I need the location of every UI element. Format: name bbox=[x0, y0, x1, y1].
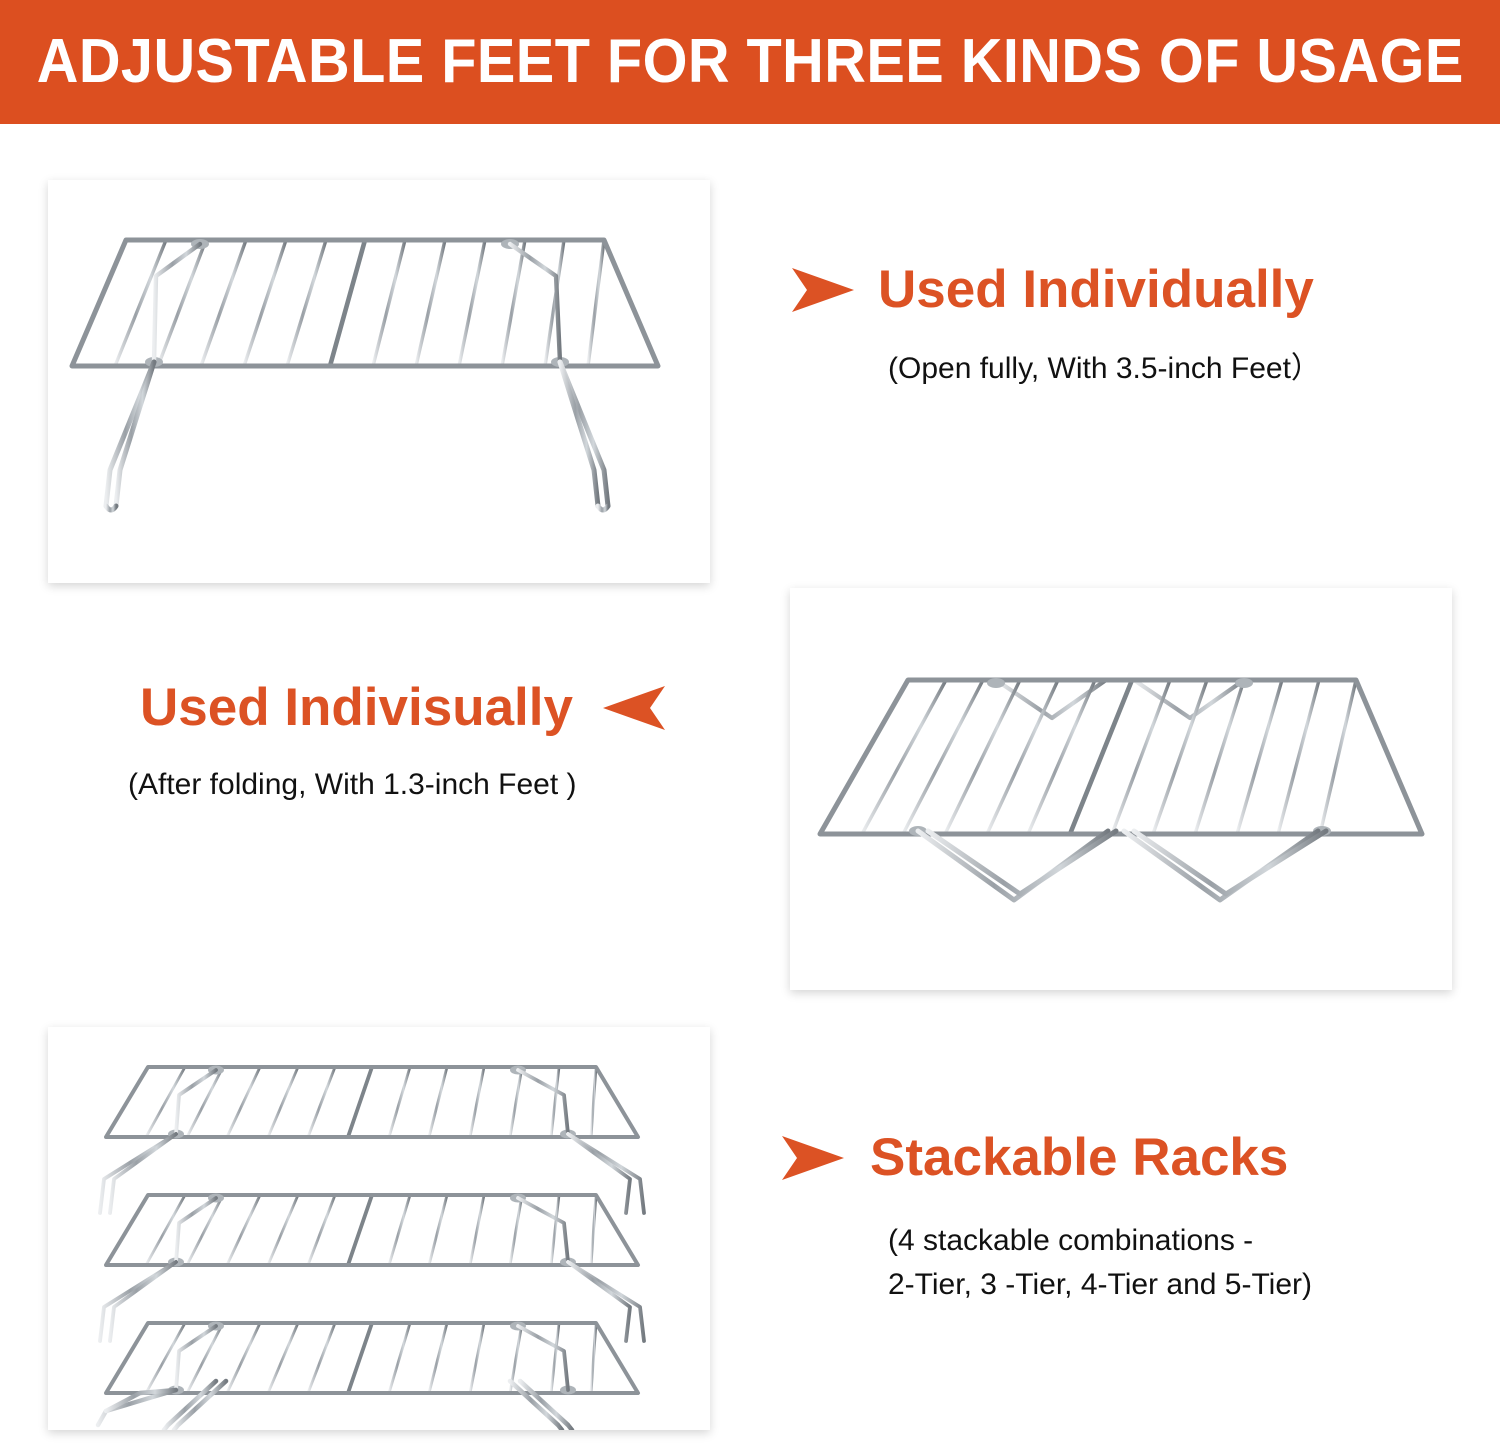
section-heading: Used Indivisually bbox=[140, 680, 573, 735]
infographic-page: ADJUSTABLE FEET FOR THREE KINDS OF USAGE bbox=[0, 0, 1500, 1452]
section-subtitle-wrap: (After folding, With 1.3-inch Feet ) bbox=[128, 763, 667, 807]
section-heading-row: Used Indivisually bbox=[140, 680, 667, 735]
section-heading-row: Used Individually bbox=[790, 262, 1321, 317]
cooling-rack-open-photo bbox=[48, 180, 710, 583]
section-heading-row: Stackable Racks bbox=[780, 1130, 1312, 1185]
cooling-rack-folded-photo bbox=[790, 588, 1452, 990]
header-banner: ADJUSTABLE FEET FOR THREE KINDS OF USAGE bbox=[0, 0, 1500, 124]
section-subtitle: (Open fully, With 3.5-inch Feet） bbox=[888, 347, 1321, 391]
section-stackable-racks: Stackable Racks (4 stackable combination… bbox=[780, 1130, 1312, 1306]
section-subtitle-wrap: (Open fully, With 3.5-inch Feet） bbox=[888, 347, 1321, 391]
section-heading: Used Individually bbox=[878, 262, 1314, 317]
cooling-racks-stacked-photo bbox=[48, 1027, 710, 1430]
section-subtitle-line-1: (4 stackable combinations - bbox=[888, 1219, 1312, 1263]
section-subtitle-wrap: (4 stackable combinations - 2-Tier, 3 -T… bbox=[888, 1219, 1312, 1306]
page-title: ADJUSTABLE FEET FOR THREE KINDS OF USAGE bbox=[36, 31, 1463, 93]
section-subtitle: (After folding, With 1.3-inch Feet ) bbox=[128, 763, 667, 807]
section-subtitle-line-2: 2-Tier, 3 -Tier, 4-Tier and 5-Tier) bbox=[888, 1263, 1312, 1307]
section-used-indivisually: Used Indivisually (After folding, With 1… bbox=[140, 680, 667, 807]
arrow-right-icon bbox=[780, 1133, 846, 1183]
section-used-individually: Used Individually (Open fully, With 3.5-… bbox=[790, 262, 1321, 391]
arrow-left-icon bbox=[601, 683, 667, 733]
section-heading: Stackable Racks bbox=[870, 1130, 1288, 1185]
arrow-right-icon bbox=[790, 265, 856, 315]
